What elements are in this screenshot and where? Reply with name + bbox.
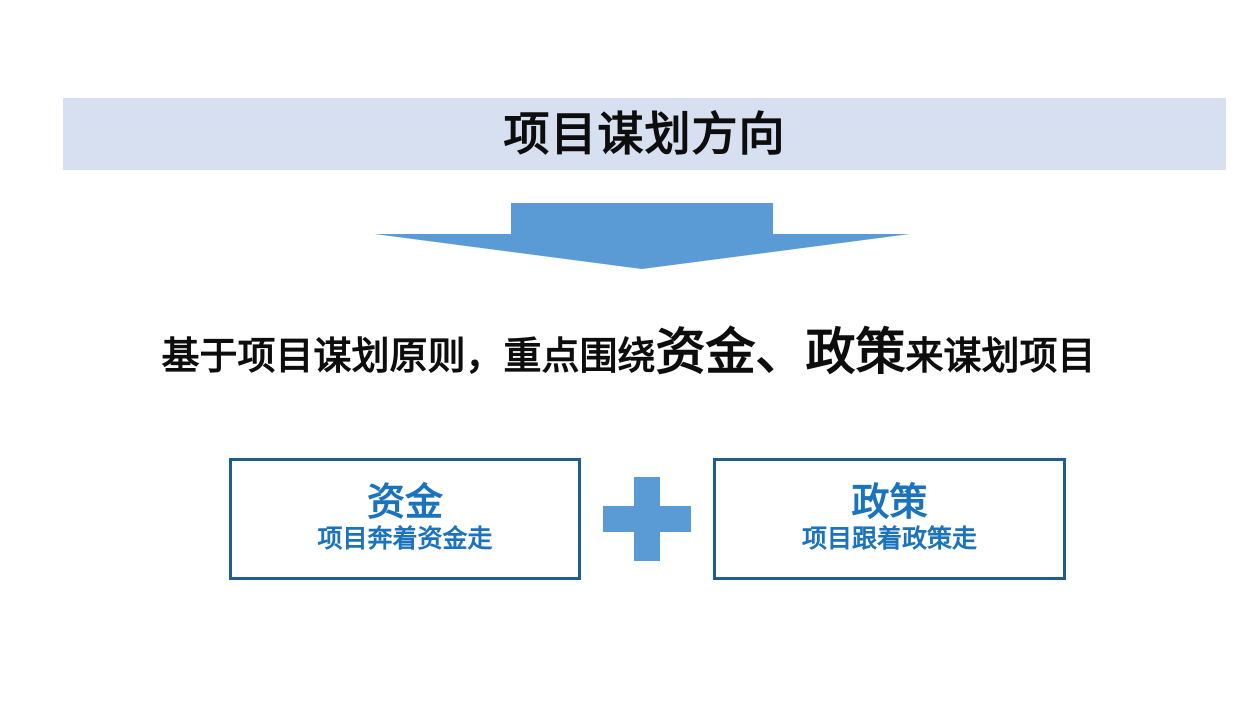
statement-prefix: 基于项目谋划原则，重点围绕 [161,336,655,378]
title-banner: 项目谋划方向 [63,98,1226,170]
concept-title-funding: 资金 [367,484,443,524]
concept-box-policy[interactable]: 政策 项目跟着政策走 [713,458,1066,580]
slide-canvas: 项目谋划方向 基于项目谋划原则，重点围绕资金、政策来谋划项目 资金 项目奔着资金… [0,0,1257,716]
statement-line: 基于项目谋划原则，重点围绕资金、政策来谋划项目 [0,327,1257,377]
concept-subtitle-funding: 项目奔着资金走 [317,526,492,554]
statement-emphasis: 资金、政策 [656,324,906,380]
statement-suffix: 来谋划项目 [906,336,1096,378]
concept-title-policy: 政策 [851,484,927,524]
down-arrow-icon [374,203,910,269]
concept-subtitle-policy: 项目跟着政策走 [802,526,977,554]
page-title: 项目谋划方向 [504,111,786,157]
plus-icon [603,477,691,561]
concept-box-funding[interactable]: 资金 项目奔着资金走 [229,458,581,580]
